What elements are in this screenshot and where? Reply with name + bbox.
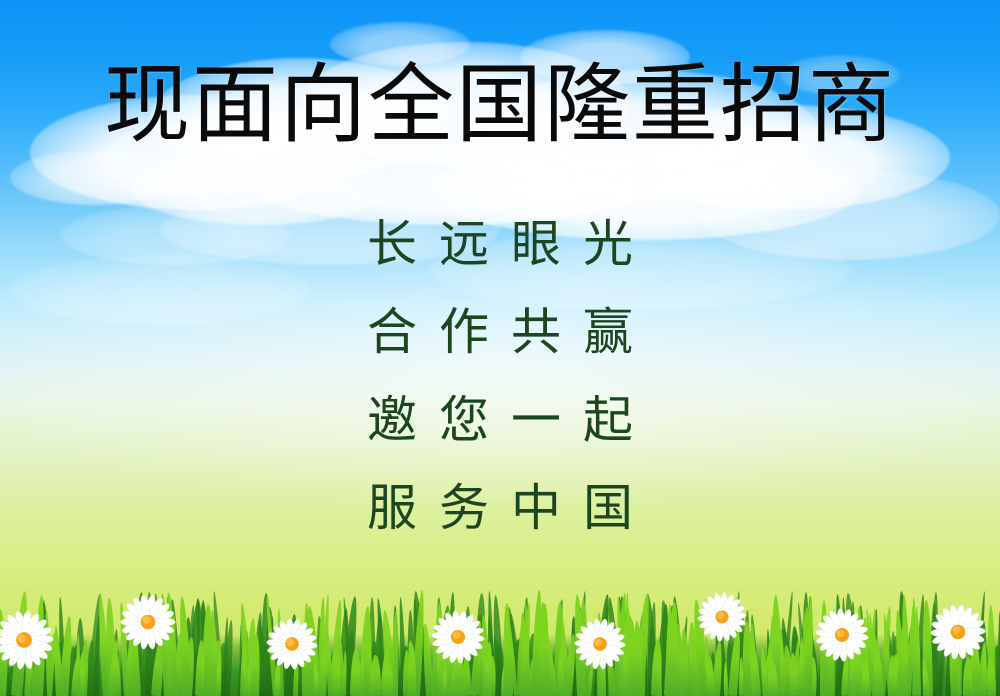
poster-canvas: 现面向全国隆重招商 长远眼光 合作共赢 邀您一起 服务中国 [0, 0, 1000, 696]
grass-blade [0, 609, 5, 696]
grass-blade [820, 600, 828, 696]
slogan-block: 长远眼光 合作共赢 邀您一起 服务中国 [0, 200, 1000, 552]
grass-blade [541, 604, 549, 696]
slogan-line-4: 服务中国 [0, 464, 1000, 552]
slogan-line-1: 长远眼光 [0, 200, 1000, 288]
slogan-line-3: 邀您一起 [0, 376, 1000, 464]
slogan-line-2: 合作共赢 [0, 288, 1000, 376]
poster-headline: 现面向全国隆重招商 [0, 62, 1000, 148]
grass-meadow [0, 576, 1000, 696]
